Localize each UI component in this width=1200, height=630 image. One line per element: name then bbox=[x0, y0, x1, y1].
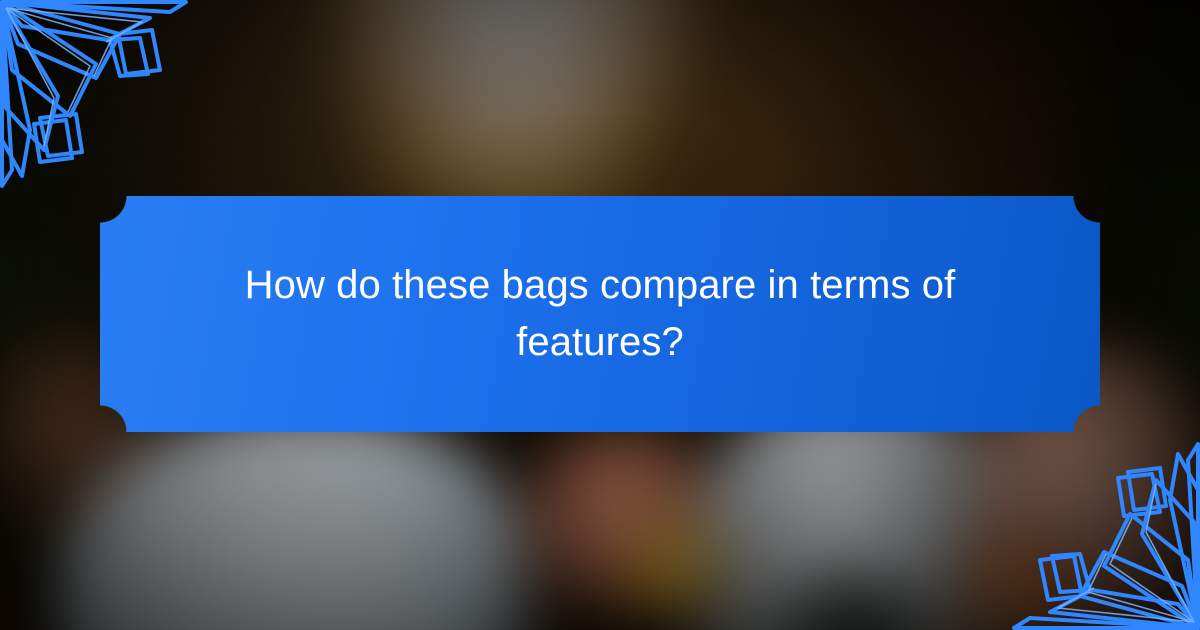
corner-ornament-bottom-right bbox=[1000, 430, 1200, 630]
image-canvas: How do these bags compare in terms of fe… bbox=[0, 0, 1200, 630]
headline-text: How do these bags compare in terms of fe… bbox=[210, 257, 990, 371]
headline-banner: How do these bags compare in terms of fe… bbox=[100, 196, 1100, 432]
corner-ornament-top-left bbox=[0, 0, 200, 200]
